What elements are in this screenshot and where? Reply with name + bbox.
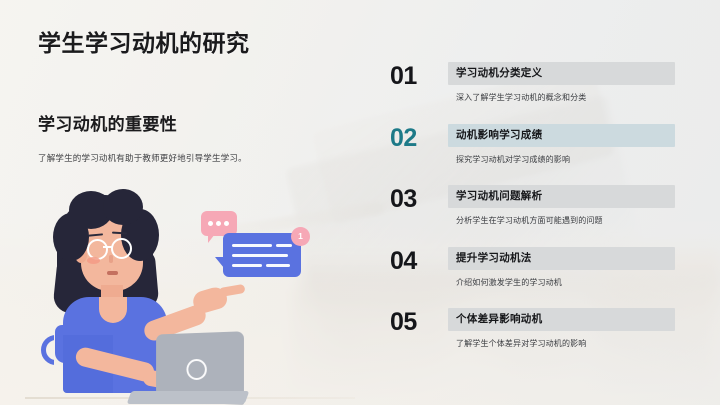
message-line [232,244,272,247]
agenda-item-number: 03 [390,187,442,212]
typing-dot [224,221,229,226]
agenda-item-04[interactable]: 04 提升学习动机法 介绍如何激发学生的学习动机 [390,247,690,309]
agenda-item-description: 介绍如何激发学生的学习动机 [456,276,562,289]
glasses-bridge [103,246,112,248]
agenda-item-02[interactable]: 02 动机影响学习成绩 探究学习动机对学习成绩的影响 [390,124,690,186]
laptop-keyboard-base [127,391,250,404]
hair-curl [103,189,143,225]
typing-dot [216,221,221,226]
message-line [232,254,288,257]
page-title: 学生学习动机的研究 [38,24,250,58]
laptop-logo-icon [186,359,206,380]
agenda-item-title: 提升学习动机法 [456,251,532,266]
agenda-item-05[interactable]: 05 个体差异影响动机 了解学生个体差异对学习动机的影响 [390,308,690,370]
message-line [276,244,292,247]
agenda-item-01[interactable]: 01 学习动机分类定义 深入了解学生学习动机的概念和分类 [390,62,690,124]
agenda-item-number: 04 [390,249,442,274]
agenda-item-title: 动机影响学习成绩 [456,128,542,143]
index-finger [218,284,245,297]
agenda-item-title: 学习动机问题解析 [456,189,542,204]
section-subtitle: 学习动机的重要性 [38,110,177,135]
agenda-item-description: 探究学习动机对学习成绩的影响 [456,153,570,166]
glasses-lens-right [111,238,132,259]
nose [109,255,113,263]
agenda-item-description: 了解学生个体差异对学习动机的影响 [456,337,586,350]
illustration-woman-at-laptop: 1 [25,185,345,405]
agenda-item-title: 个体差异影响动机 [456,312,542,327]
agenda-item-description: 深入了解学生学习动机的概念和分类 [456,91,586,104]
message-line [232,264,262,267]
agenda-list: 01 学习动机分类定义 深入了解学生学习动机的概念和分类 02 动机影响学习成绩… [390,62,690,370]
agenda-item-description: 分析学生在学习动机方面可能遇到的问题 [456,214,603,227]
agenda-item-03[interactable]: 03 学习动机问题解析 分析学生在学习动机方面可能遇到的问题 [390,185,690,247]
presentation-slide: 学生学习动机的研究 学习动机的重要性 了解学生的学习动机有助于教师更好地引导学生… [0,0,720,405]
agenda-item-number: 01 [390,64,442,89]
notification-badge: 1 [291,227,310,246]
message-bubble-icon [223,233,301,277]
typing-dot [208,221,213,226]
mouth [107,271,118,275]
agenda-item-number: 02 [390,126,442,151]
section-description: 了解学生的学习动机有助于教师更好地引导学生学习。 [38,152,313,165]
cheek-blush [87,257,100,264]
message-line [266,264,290,267]
agenda-item-number: 05 [390,310,442,335]
agenda-item-title: 学习动机分类定义 [456,66,542,81]
